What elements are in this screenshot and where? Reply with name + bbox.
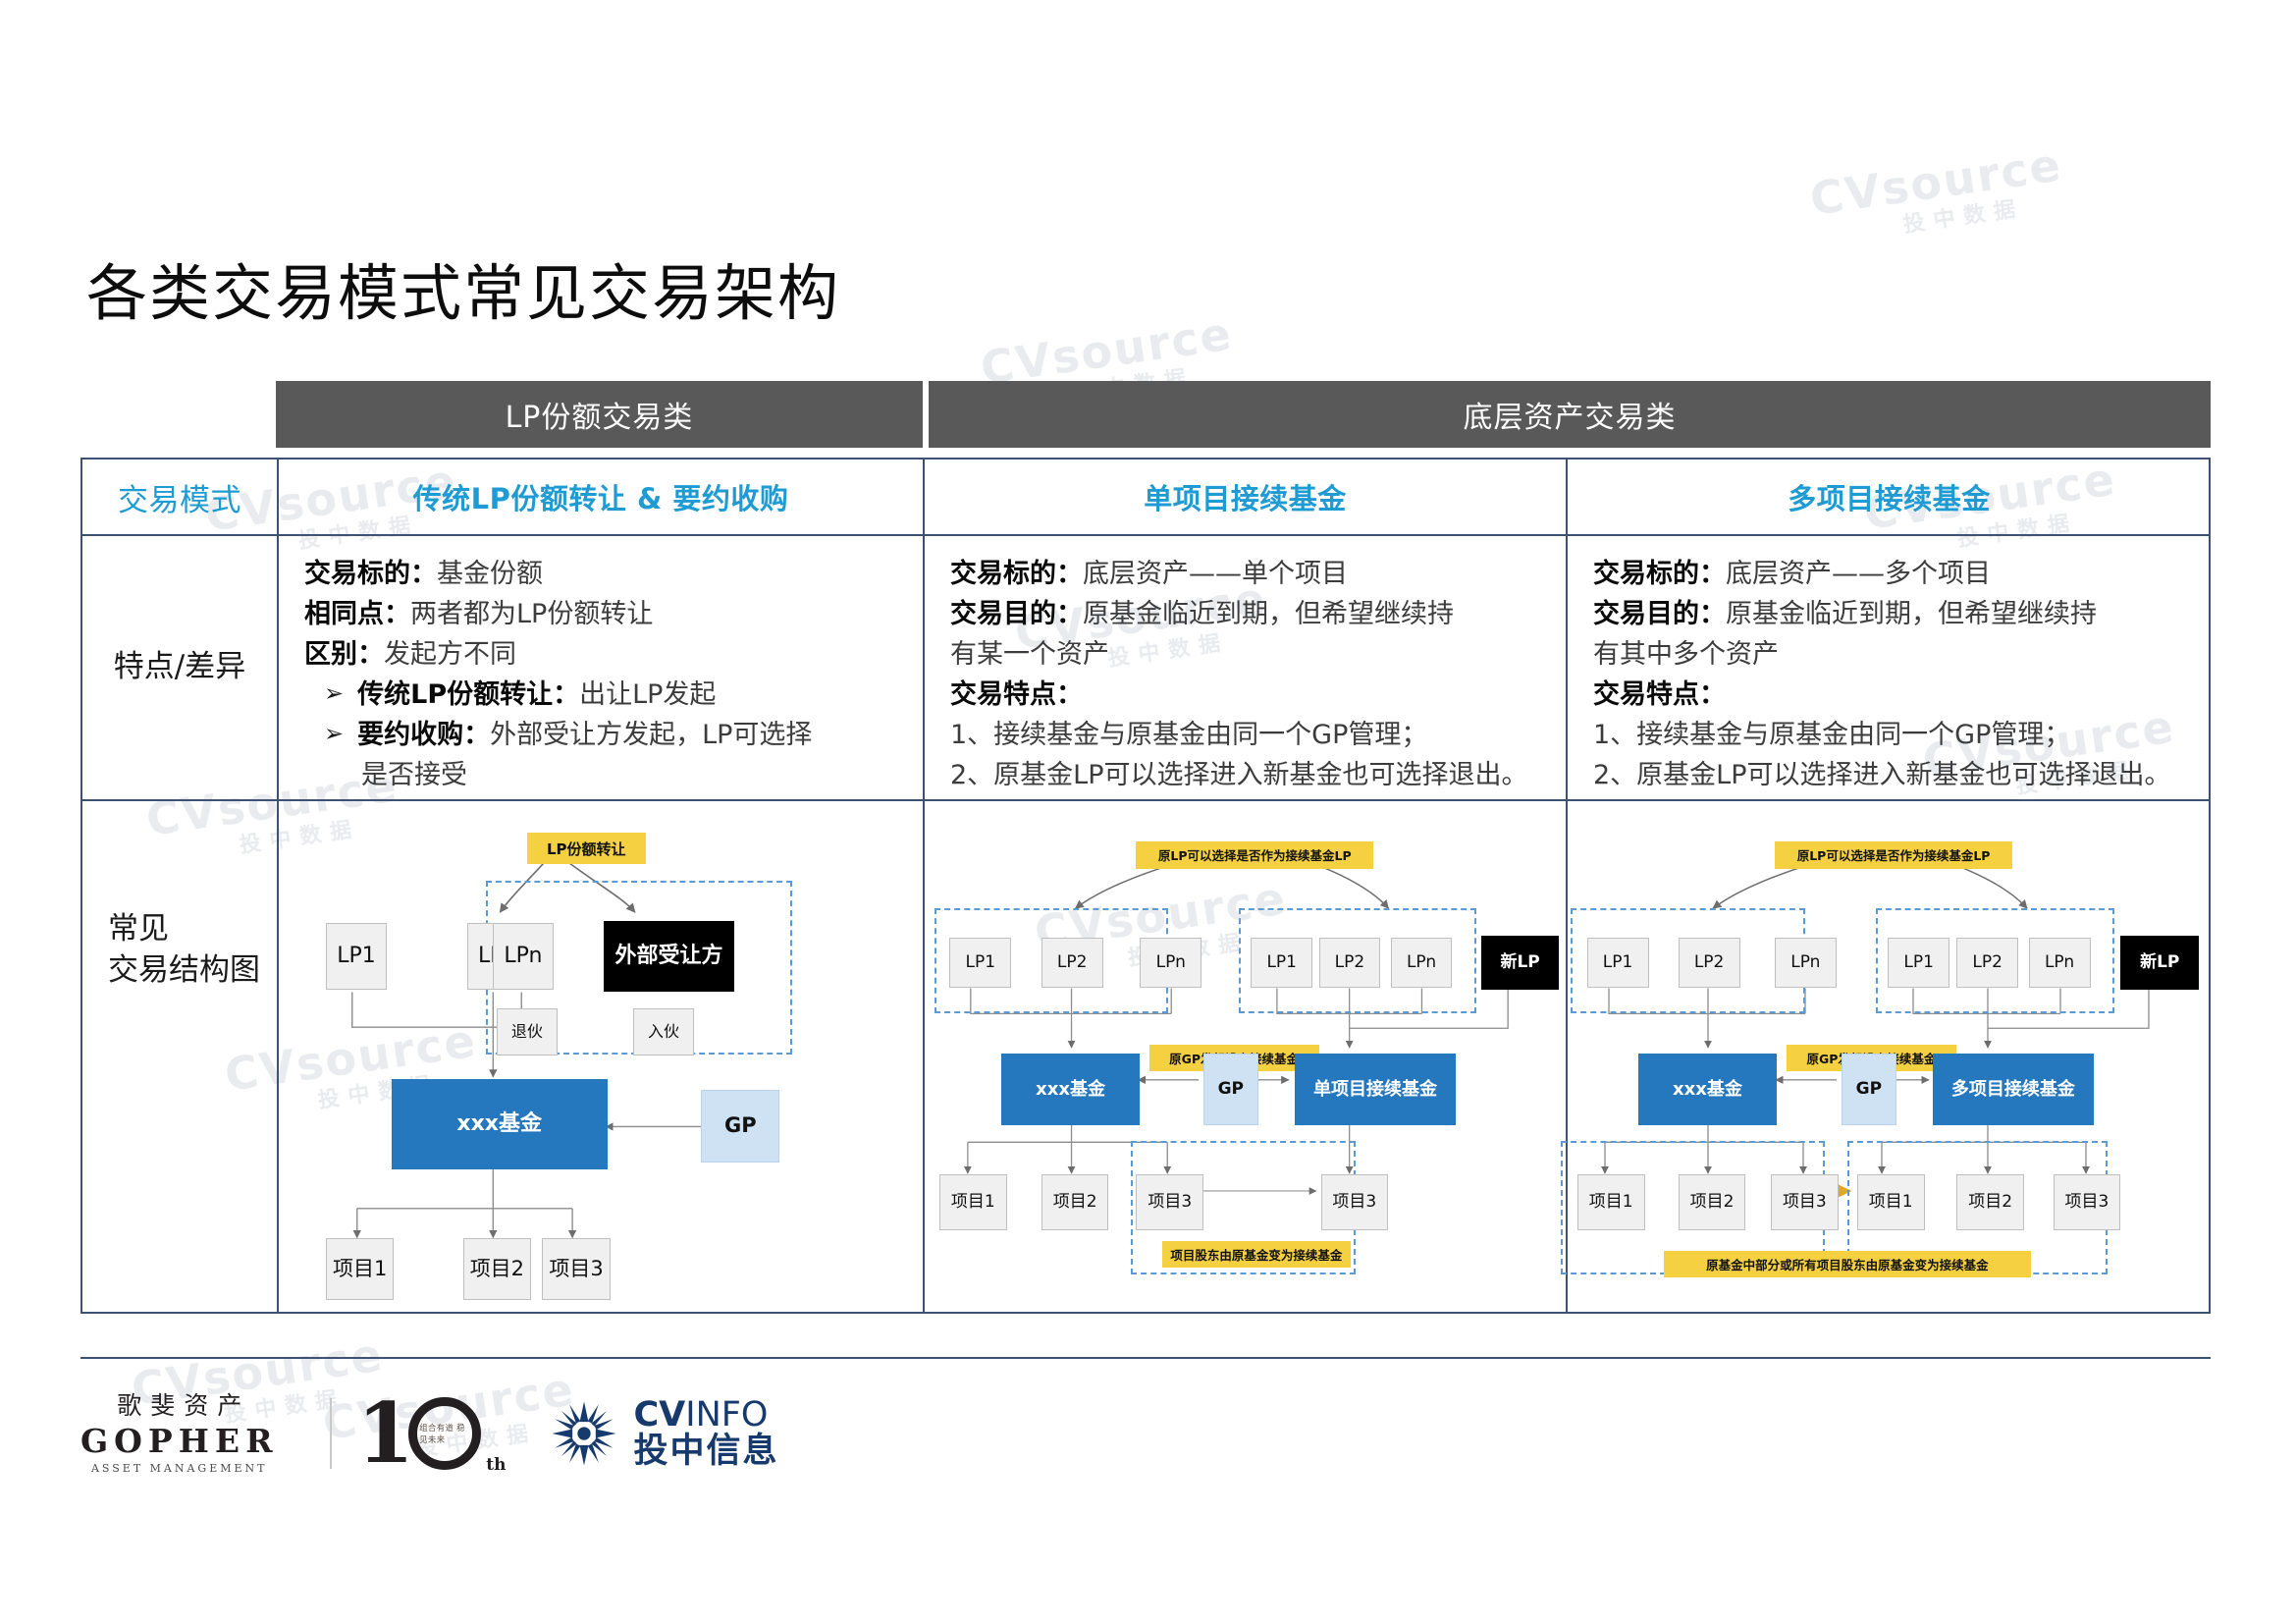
node-label: LP1 — [1603, 953, 1633, 972]
callout-shareholder-change: 原基金中部分或所有项目股东由原基金变为接续基金 — [1664, 1251, 2030, 1277]
node-new-lp2: LP2 — [1956, 938, 2018, 988]
feature-point: 1、接续基金与原基金由同一个GP管理； — [950, 715, 1544, 755]
node-label: LP2 — [1972, 953, 2002, 972]
node-label: 项目3 — [1783, 1193, 1827, 1212]
node-old-project-3: 项目3 — [1771, 1174, 1839, 1230]
feature-key: 传统LP份额转让： — [357, 679, 579, 710]
node-new-lp1: LP1 — [1888, 938, 1949, 988]
feature-value: 外部受让方发起，LP可选择 — [490, 720, 812, 750]
header-cell-col3: 多项目接续基金 — [1568, 460, 2211, 536]
diagram-single-project-continuation: 原LP可以选择是否作为接续基金LP LP1 LP2 LPn LP1 LP2 — [925, 801, 1566, 1312]
node-label: LPn — [504, 945, 542, 968]
node-label: 项目1 — [1589, 1193, 1633, 1212]
feature-key: 交易目的： — [1593, 599, 1726, 629]
logo-gopher-en: GOPHER — [80, 1425, 279, 1457]
watermark-brand: CVsource — [1807, 137, 2065, 225]
feature-line: 交易特点： — [950, 675, 1544, 715]
diagram-connectors — [279, 801, 923, 1312]
logo-anniversary-ring: 组合有道 稳见未来 — [408, 1397, 481, 1470]
row-label-features-text: 特点/差异 — [114, 647, 245, 688]
callout-shareholder-change: 项目股东由原基金变为接续基金 — [1162, 1241, 1352, 1268]
node-label: LPn — [2045, 953, 2074, 972]
node-label: 项目2 — [1053, 1193, 1097, 1212]
node-gp: GP — [1842, 1054, 1896, 1125]
node-label: LP1 — [966, 953, 996, 972]
logo-gopher-cn: 歌斐资产 — [108, 1393, 250, 1418]
features-cell-col3: 交易标的：底层资产——多个项目 交易目的：原基金临近到期，但希望继续持 有其中多… — [1568, 536, 2211, 801]
node-old-lp2: LP2 — [1041, 938, 1103, 988]
feature-text-col1: 交易标的：基金份额 相同点：两者都为LP份额转让 区别：发起方不同 ➢ 传统LP… — [279, 536, 923, 805]
header-col1-label: 传统LP份额转让 & 要约收购 — [413, 476, 789, 517]
row-label-structure-line2: 交易结构图 — [108, 950, 260, 992]
feature-key: 相同点： — [304, 599, 410, 629]
header-cell-mode: 交易模式 — [82, 460, 279, 536]
watermark-top-right: CVsource 投中数据 — [1807, 137, 2069, 250]
node-new-lp-black: 新LP — [1481, 936, 1560, 990]
node-label: LP1 — [337, 945, 376, 968]
node-label: 新LP — [1500, 953, 1539, 972]
node-label: GP — [724, 1114, 757, 1137]
node-project-2: 项目2 — [1041, 1174, 1109, 1230]
feature-line-continuation: 是否接受 — [304, 755, 901, 795]
logo-cvinfo: CVINFO 投中信息 — [548, 1397, 779, 1470]
node-label: LP2 — [1694, 953, 1725, 972]
node-old-project-2: 项目2 — [1679, 1174, 1746, 1230]
node-gp: GP — [1203, 1054, 1258, 1125]
category-band-asset: 底层资产交易类 — [929, 381, 2211, 448]
diagram-cell-col2: 原LP可以选择是否作为接续基金LP LP1 LP2 LPn LP1 LP2 — [925, 801, 1568, 1312]
node-label: 入伙 — [648, 1023, 679, 1041]
node-old-lpn: LPn — [1140, 938, 1201, 988]
footer-divider — [80, 1357, 2211, 1359]
logo-anniversary-number: 1 — [357, 1398, 414, 1469]
node-continuation-fund: 多项目接续基金 — [1933, 1054, 2094, 1125]
feature-bullet: ➢ 要约收购：外部受让方发起，LP可选择 — [304, 715, 901, 755]
feature-value: 出让LP发起 — [579, 679, 716, 710]
bullet-arrow-icon: ➢ — [324, 675, 344, 712]
node-label: 项目3 — [2064, 1193, 2109, 1212]
node-label: GP — [1218, 1080, 1244, 1099]
logo-anniversary: 1 组合有道 稳见未来 th — [357, 1386, 505, 1481]
node-original-fund: xxx基金 — [392, 1079, 608, 1170]
node-exit-partnership: 退伙 — [497, 1008, 558, 1056]
diagram-cell-col1: LP份额转让 LP1 LP2 LPn 外部受让方 退伙 — [279, 801, 925, 1312]
diagram-traditional-lp-transfer: LP份额转让 LP1 LP2 LPn 外部受让方 退伙 — [279, 801, 923, 1312]
feature-point: 2、原基金LP可以选择进入新基金也可选择退出。 — [1593, 755, 2189, 795]
node-label: 项目2 — [1968, 1193, 2012, 1212]
cvinfo-line2: 投中信息 — [634, 1434, 779, 1470]
feature-key: 交易特点： — [1593, 679, 1726, 710]
node-label: xxx基金 — [456, 1112, 542, 1136]
node-label: 退伙 — [511, 1023, 543, 1041]
node-label: 项目2 — [1690, 1193, 1735, 1212]
feature-line-continuation: 有其中多个资产 — [1593, 634, 2189, 675]
feature-value: 原基金临近到期，但希望继续持 — [1083, 599, 1454, 629]
cvinfo-burst-icon — [548, 1397, 620, 1470]
logo-anniversary-slogan: 组合有道 稳见未来 — [419, 1422, 470, 1445]
feature-bullet: ➢ 传统LP份额转让：出让LP发起 — [304, 675, 901, 715]
node-new-project-2: 项目2 — [1956, 1174, 2024, 1230]
node-lp1: LP1 — [326, 923, 387, 991]
node-project-1: 项目1 — [939, 1174, 1007, 1230]
node-external-transferee: 外部受让方 — [604, 921, 734, 992]
node-original-fund: xxx基金 — [1001, 1054, 1139, 1125]
slide-page: CVsource 投中数据 CVsource 投中数据 CVsource 投中数… — [0, 0, 2296, 1624]
feature-line: 区别：发起方不同 — [304, 634, 901, 675]
node-label: 多项目接续基金 — [1951, 1080, 2075, 1100]
node-old-project-1: 项目1 — [1577, 1174, 1645, 1230]
category-band-lp-label: LP份额交易类 — [506, 393, 694, 436]
node-label: 新LP — [2140, 953, 2179, 972]
node-new-lp2: LP2 — [1319, 938, 1381, 988]
diagram-multi-project-continuation: 原LP可以选择是否作为接续基金LP LP1 LP2 LPn LP1 LP2 — [1568, 801, 2211, 1312]
node-project-3-old: 项目3 — [1136, 1174, 1203, 1230]
feature-key: 交易标的： — [950, 559, 1083, 589]
feature-key: 交易标的： — [304, 559, 437, 589]
row-label-structure-line1: 常见 — [108, 909, 260, 950]
node-label: 项目1 — [333, 1258, 387, 1280]
feature-value: 基金份额 — [437, 559, 543, 589]
node-label: xxx基金 — [1673, 1080, 1742, 1100]
node-new-lpn: LPn — [1391, 938, 1453, 988]
node-new-lpn: LPn — [2029, 938, 2091, 988]
node-label: 项目1 — [951, 1193, 995, 1212]
node-lpn: LPn — [493, 923, 554, 991]
node-label: GP — [1856, 1080, 1882, 1099]
node-label: LP2 — [1057, 953, 1088, 972]
callout-lp-transfer: LP份额转让 — [527, 833, 646, 865]
callout-label: 原LP可以选择是否作为接续基金LP — [1797, 845, 1991, 864]
node-label: 项目3 — [549, 1258, 603, 1280]
logo-gopher: 歌斐资产 GOPHER ASSET MANAGEMENT — [80, 1393, 304, 1474]
header-mode-label: 交易模式 — [118, 475, 241, 519]
logo-gopher-sub: ASSET MANAGEMENT — [91, 1463, 268, 1474]
node-label: 项目1 — [1869, 1193, 1913, 1212]
node-old-lp1: LP1 — [949, 938, 1011, 988]
logo-separator — [330, 1398, 332, 1469]
callout-label: 原基金中部分或所有项目股东由原基金变为接续基金 — [1706, 1255, 1989, 1273]
node-label: 项目2 — [470, 1258, 524, 1280]
feature-point: 2、原基金LP可以选择进入新基金也可选择退出。 — [950, 755, 1544, 795]
cvinfo-line1: CVINFO — [634, 1397, 779, 1434]
features-cell-col1: 交易标的：基金份额 相同点：两者都为LP份额转让 区别：发起方不同 ➢ 传统LP… — [279, 536, 925, 801]
feature-key: 区别： — [304, 639, 384, 670]
node-label: 单项目接续基金 — [1313, 1080, 1437, 1100]
node-new-lp-black: 新LP — [2120, 936, 2199, 990]
comparison-matrix: 交易模式 传统LP份额转让 & 要约收购 单项目接续基金 多项目接续基金 特点/… — [80, 458, 2211, 1314]
node-old-lp2: LP2 — [1679, 938, 1740, 988]
category-band-lp: LP份额交易类 — [276, 381, 923, 448]
feature-text-col2: 交易标的：底层资产——单个项目 交易目的：原基金临近到期，但希望继续持 有某一个… — [925, 536, 1566, 805]
feature-point: 1、接续基金与原基金由同一个GP管理； — [1593, 715, 2189, 755]
node-project-2: 项目2 — [463, 1238, 532, 1300]
category-band-asset-label: 底层资产交易类 — [1464, 393, 1677, 436]
header-col3-label: 多项目接续基金 — [1788, 476, 1991, 517]
node-project-1: 项目1 — [326, 1238, 395, 1300]
node-original-fund: xxx基金 — [1638, 1054, 1777, 1125]
cvinfo-info: INFO — [685, 1395, 768, 1435]
features-cell-col2: 交易标的：底层资产——单个项目 交易目的：原基金临近到期，但希望继续持 有某一个… — [925, 536, 1568, 801]
node-label: 外部受让方 — [615, 945, 723, 968]
callout-label: 原LP可以选择是否作为接续基金LP — [1158, 845, 1352, 864]
row-label-structure: 常见 交易结构图 — [82, 801, 279, 1312]
node-project-3: 项目3 — [542, 1238, 611, 1300]
callout-label: LP份额转让 — [547, 839, 626, 859]
node-new-lp1: LP1 — [1251, 938, 1312, 988]
feature-key: 交易特点： — [950, 679, 1083, 710]
node-new-project-1: 项目1 — [1857, 1174, 1925, 1230]
header-cell-col1: 传统LP份额转让 & 要约收购 — [279, 460, 925, 536]
feature-text-col3: 交易标的：底层资产——多个项目 交易目的：原基金临近到期，但希望继续持 有其中多… — [1568, 536, 2211, 805]
feature-key: 要约收购： — [357, 720, 490, 750]
bullet-arrow-icon: ➢ — [324, 715, 344, 752]
header-cell-col2: 单项目接续基金 — [925, 460, 1568, 536]
node-label: 项目3 — [1148, 1193, 1192, 1212]
row-label-features: 特点/差异 — [82, 536, 279, 801]
feature-value: 原基金临近到期，但希望继续持 — [1726, 599, 2097, 629]
callout-label: 项目股东由原基金变为接续基金 — [1170, 1245, 1342, 1264]
feature-value: 底层资产——多个项目 — [1726, 559, 1991, 589]
page-title: 各类交易模式常见交易架构 — [86, 244, 840, 332]
callout-lp-choice: 原LP可以选择是否作为接续基金LP — [1775, 841, 2012, 870]
bullet-body: 要约收购：外部受让方发起，LP可选择 — [357, 715, 901, 755]
feature-value: 发起方不同 — [384, 639, 516, 670]
cvinfo-wordmark: CVINFO 投中信息 — [634, 1397, 779, 1470]
feature-line: 交易目的：原基金临近到期，但希望继续持 — [950, 594, 1544, 634]
node-project-3-new: 项目3 — [1321, 1174, 1389, 1230]
diagram-cell-col3: 原LP可以选择是否作为接续基金LP LP1 LP2 LPn LP1 LP2 — [1568, 801, 2211, 1312]
node-old-lpn: LPn — [1775, 938, 1837, 988]
watermark-sub: 投中数据 — [1900, 185, 2068, 239]
feature-line: 交易标的：基金份额 — [304, 554, 901, 594]
feature-line: 相同点：两者都为LP份额转让 — [304, 594, 901, 634]
cvinfo-cv: CV — [634, 1395, 686, 1435]
callout-lp-choice: 原LP可以选择是否作为接续基金LP — [1136, 841, 1373, 870]
feature-line: 交易标的：底层资产——多个项目 — [1593, 554, 2189, 594]
node-label: LP2 — [1335, 953, 1365, 972]
node-old-lp1: LP1 — [1587, 938, 1649, 988]
node-label: xxx基金 — [1036, 1080, 1105, 1100]
feature-value: 两者都为LP份额转让 — [410, 599, 653, 629]
node-new-project-3: 项目3 — [2054, 1174, 2121, 1230]
node-label: LP1 — [1266, 953, 1297, 972]
footer-logos: 歌斐资产 GOPHER ASSET MANAGEMENT 1 组合有道 稳见未来… — [80, 1375, 779, 1492]
feature-line: 交易特点： — [1593, 675, 2189, 715]
logo-anniversary-suffix: th — [486, 1455, 506, 1475]
feature-value: 底层资产——单个项目 — [1083, 559, 1348, 589]
node-label: LP1 — [1903, 953, 1934, 972]
node-label: LPn — [1407, 953, 1436, 972]
bullet-body: 传统LP份额转让：出让LP发起 — [357, 675, 901, 715]
feature-line-continuation: 有某一个资产 — [950, 634, 1544, 675]
node-gp: GP — [701, 1090, 779, 1163]
feature-line: 交易目的：原基金临近到期，但希望继续持 — [1593, 594, 2189, 634]
node-join-partnership: 入伙 — [633, 1008, 694, 1056]
node-label: LPn — [1790, 953, 1820, 972]
node-label: 项目3 — [1332, 1193, 1376, 1212]
node-label: LPn — [1156, 953, 1186, 972]
feature-line: 交易标的：底层资产——单个项目 — [950, 554, 1544, 594]
feature-key: 交易目的： — [950, 599, 1083, 629]
feature-key: 交易标的： — [1593, 559, 1726, 589]
node-continuation-fund: 单项目接续基金 — [1295, 1054, 1455, 1125]
header-col2-label: 单项目接续基金 — [1144, 476, 1347, 517]
